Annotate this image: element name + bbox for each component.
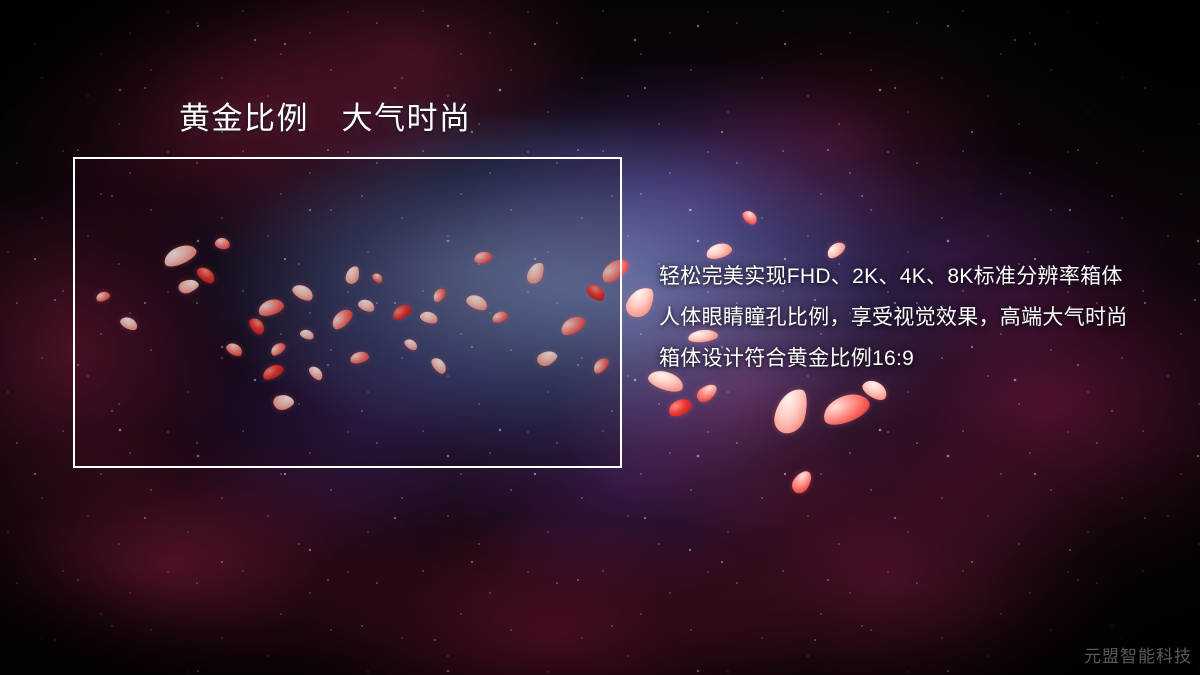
slide-canvas: 黄金比例 大气时尚 轻松完美实现FHD、2K、4K、8K标准分辨率箱体 人体眼睛…: [0, 0, 1200, 675]
flower-petal: [623, 283, 657, 322]
body-line-1: 轻松完美实现FHD、2K、4K、8K标准分辨率箱体: [659, 256, 1159, 297]
flower-petal: [772, 385, 811, 436]
framed-image-tint: [75, 159, 620, 466]
flower-petal: [789, 468, 816, 497]
flower-petal: [694, 381, 720, 405]
body-line-3: 箱体设计符合黄金比例16:9: [659, 338, 1159, 379]
flower-petal: [740, 208, 759, 227]
flower-petal: [860, 377, 891, 404]
flower-petal: [819, 388, 873, 430]
slide-title: 黄金比例 大气时尚: [179, 100, 472, 139]
watermark-label: 元盟智能科技: [1084, 642, 1192, 667]
body-text-block: 轻松完美实现FHD、2K、4K、8K标准分辨率箱体 人体眼睛瞳孔比例，享受视觉效…: [659, 256, 1159, 379]
body-line-2: 人体眼睛瞳孔比例，享受视觉效果，高端大气时尚: [659, 297, 1159, 338]
framed-image-panel: [73, 157, 622, 468]
flower-petal: [666, 396, 694, 419]
